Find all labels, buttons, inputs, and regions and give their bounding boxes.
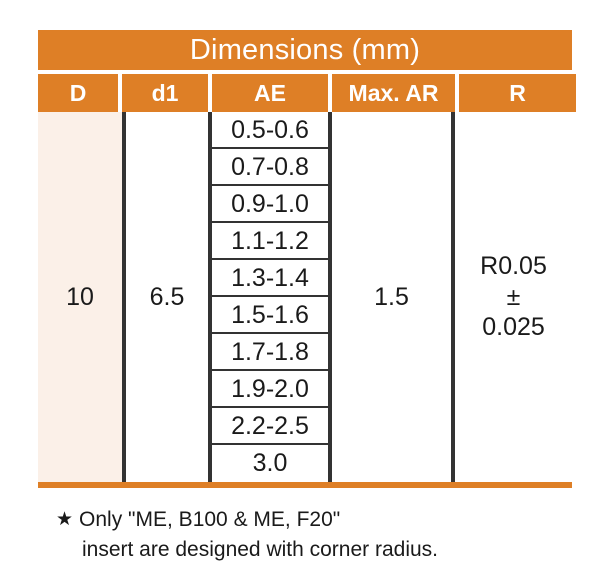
cell-d1-value: 6.5 <box>122 112 208 482</box>
footnote: ★Only "ME, B100 & ME, F20" insert are de… <box>56 505 576 566</box>
cell-d-value: 10 <box>38 112 122 482</box>
cell-ae-value: 0.5-0.6 <box>212 112 328 149</box>
column-header-max-ar: Max. AR <box>332 74 455 112</box>
cell-ae-value: 1.5-1.6 <box>212 297 328 334</box>
table-row: 10 6.5 0.5-0.6 0.7-0.8 0.9-1.0 1.1-1.2 1… <box>38 112 572 488</box>
cell-r-value: R0.05 ± 0.025 <box>451 112 572 482</box>
cell-ae-value: 1.1-1.2 <box>212 223 328 260</box>
cell-ae-value: 0.9-1.0 <box>212 186 328 223</box>
column-header-d: D <box>38 74 118 112</box>
cell-ae-value: 2.2-2.5 <box>212 408 328 445</box>
cell-ae-value: 1.9-2.0 <box>212 371 328 408</box>
cell-ae-value: 1.7-1.8 <box>212 334 328 371</box>
cell-max-ar-value: 1.5 <box>328 112 451 482</box>
column-header-d1: d1 <box>122 74 208 112</box>
dimensions-table: Dimensions (mm) D d1 AE Max. AR R 10 6.5… <box>38 30 572 488</box>
footnote-line-2: insert are designed with corner radius. <box>82 535 576 565</box>
cell-ae-value: 1.3-1.4 <box>212 260 328 297</box>
plus-minus-symbol: ± <box>507 282 521 313</box>
table-header-row: D d1 AE Max. AR R <box>38 74 572 112</box>
column-header-ae: AE <box>212 74 328 112</box>
cell-ae-list: 0.5-0.6 0.7-0.8 0.9-1.0 1.1-1.2 1.3-1.4 … <box>208 112 328 482</box>
column-header-r: R <box>459 74 576 112</box>
cell-r-tolerance: 0.025 <box>482 312 545 343</box>
star-icon: ★ <box>56 509 73 530</box>
cell-r-nominal: R0.05 <box>480 251 547 282</box>
table-title: Dimensions (mm) <box>38 30 572 70</box>
cell-ae-value: 3.0 <box>212 445 328 482</box>
footnote-line-1: Only "ME, B100 & ME, F20" <box>79 508 340 531</box>
dimensions-spec-sheet: Dimensions (mm) D d1 AE Max. AR R 10 6.5… <box>0 0 613 588</box>
cell-ae-value: 0.7-0.8 <box>212 149 328 186</box>
